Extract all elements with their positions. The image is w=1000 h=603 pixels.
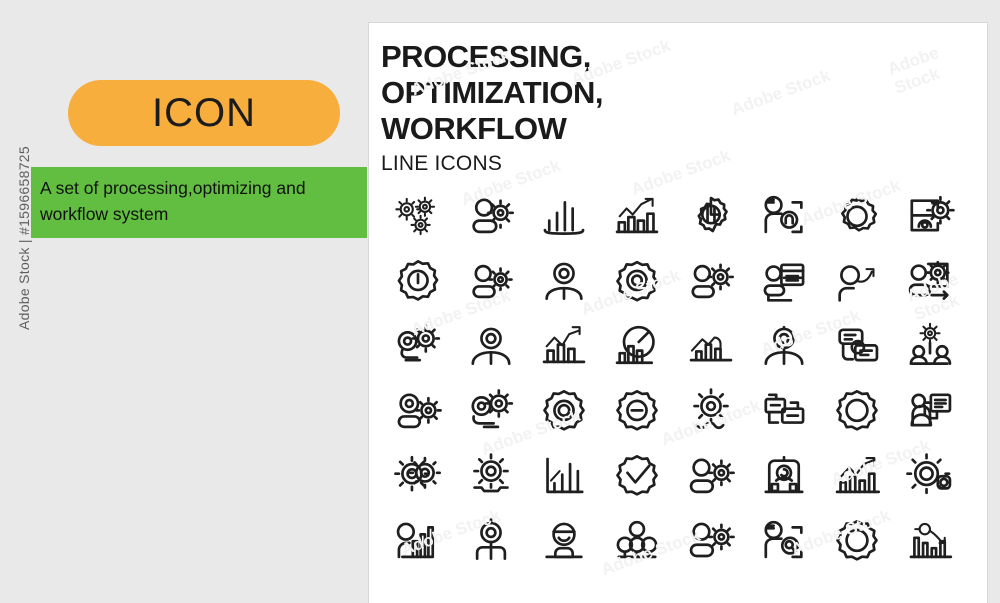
gears-overlap-icon[interactable]	[381, 445, 454, 510]
user-growth-arrow-icon[interactable]	[821, 250, 894, 315]
gear-power-icon[interactable]	[381, 250, 454, 315]
person-presenting-search-icon[interactable]	[747, 510, 820, 575]
chart-arrow-up-icon[interactable]	[528, 315, 601, 380]
user-circle-icon[interactable]	[454, 315, 527, 380]
user-gear-large-icon[interactable]	[381, 380, 454, 445]
icon-pill-label: ICON	[152, 91, 256, 136]
left-info-panel: ICON A set of processing,optimizing and …	[0, 0, 368, 603]
user-profile-icon[interactable]	[528, 250, 601, 315]
gear-minus-icon[interactable]	[601, 380, 674, 445]
user-gear-overlap-icon[interactable]	[674, 250, 747, 315]
device-gear-settings-icon[interactable]	[894, 185, 967, 250]
adobe-stock-watermark: Adobe Stock | #1596658725	[16, 146, 32, 330]
sheet-title-block: PROCESSING, OPTIMIZATION, WORKFLOW	[381, 39, 967, 147]
users-gear-group-icon[interactable]	[674, 445, 747, 510]
gears-workflow-icon[interactable]	[454, 380, 527, 445]
gear-ring-icon[interactable]	[528, 380, 601, 445]
sheet-title-line-1: PROCESSING,	[381, 39, 967, 75]
sheet-title-line-2: OPTIMIZATION,	[381, 75, 967, 111]
line-bar-analytics-icon[interactable]	[674, 315, 747, 380]
pie-bar-combo-icon[interactable]	[601, 315, 674, 380]
gear-wave-icon[interactable]	[674, 380, 747, 445]
user-gear-transfer-icon[interactable]	[894, 250, 967, 315]
three-gears-icon[interactable]	[381, 185, 454, 250]
icon-pill-badge: ICON	[68, 80, 340, 146]
gear-pie-chart-icon[interactable]	[674, 185, 747, 250]
bar-chart-icon[interactable]	[528, 185, 601, 250]
flowchart-boxes-icon[interactable]	[747, 380, 820, 445]
graduate-person-icon[interactable]	[528, 510, 601, 575]
description-box: A set of processing,optimizing and workf…	[31, 167, 367, 238]
sheet-title-line-3: WORKFLOW	[381, 111, 967, 147]
person-document-node-icon[interactable]	[894, 380, 967, 445]
bar-chart-axis-icon[interactable]	[528, 445, 601, 510]
declining-bars-arrow-icon[interactable]	[894, 510, 967, 575]
icon-sheet-panel: PROCESSING, OPTIMIZATION, WORKFLOW LINE …	[368, 22, 988, 603]
sheet-subtitle: LINE ICONS	[381, 149, 967, 179]
growth-bars-arrow-icon[interactable]	[821, 445, 894, 510]
user-gear-small-icon[interactable]	[454, 250, 527, 315]
user-gear-pair-icon[interactable]	[674, 510, 747, 575]
gears-pair-base-icon[interactable]	[381, 315, 454, 380]
user-target-icon[interactable]	[747, 315, 820, 380]
gear-check-icon[interactable]	[601, 445, 674, 510]
org-chart-people-icon[interactable]	[601, 510, 674, 575]
gear-icon[interactable]	[821, 185, 894, 250]
person-presenting-magnet-icon[interactable]	[747, 185, 820, 250]
chat-bubbles-icon[interactable]	[821, 315, 894, 380]
description-text: A set of processing,optimizing and workf…	[40, 175, 357, 227]
gear-solid-ring-icon[interactable]	[601, 250, 674, 315]
person-bar-chart-icon[interactable]	[381, 510, 454, 575]
video-call-person-icon[interactable]	[747, 445, 820, 510]
user-document-list-icon[interactable]	[747, 250, 820, 315]
gear-outline-icon[interactable]	[821, 510, 894, 575]
user-gear-icon[interactable]	[454, 185, 527, 250]
icon-grid	[381, 185, 967, 575]
gear-platform-icon[interactable]	[454, 445, 527, 510]
growth-chart-arrow-icon[interactable]	[601, 185, 674, 250]
gear-settings-badge-icon[interactable]	[894, 445, 967, 510]
team-gear-hierarchy-icon[interactable]	[894, 315, 967, 380]
person-target-stand-icon[interactable]	[454, 510, 527, 575]
gear-plain-icon[interactable]	[821, 380, 894, 445]
